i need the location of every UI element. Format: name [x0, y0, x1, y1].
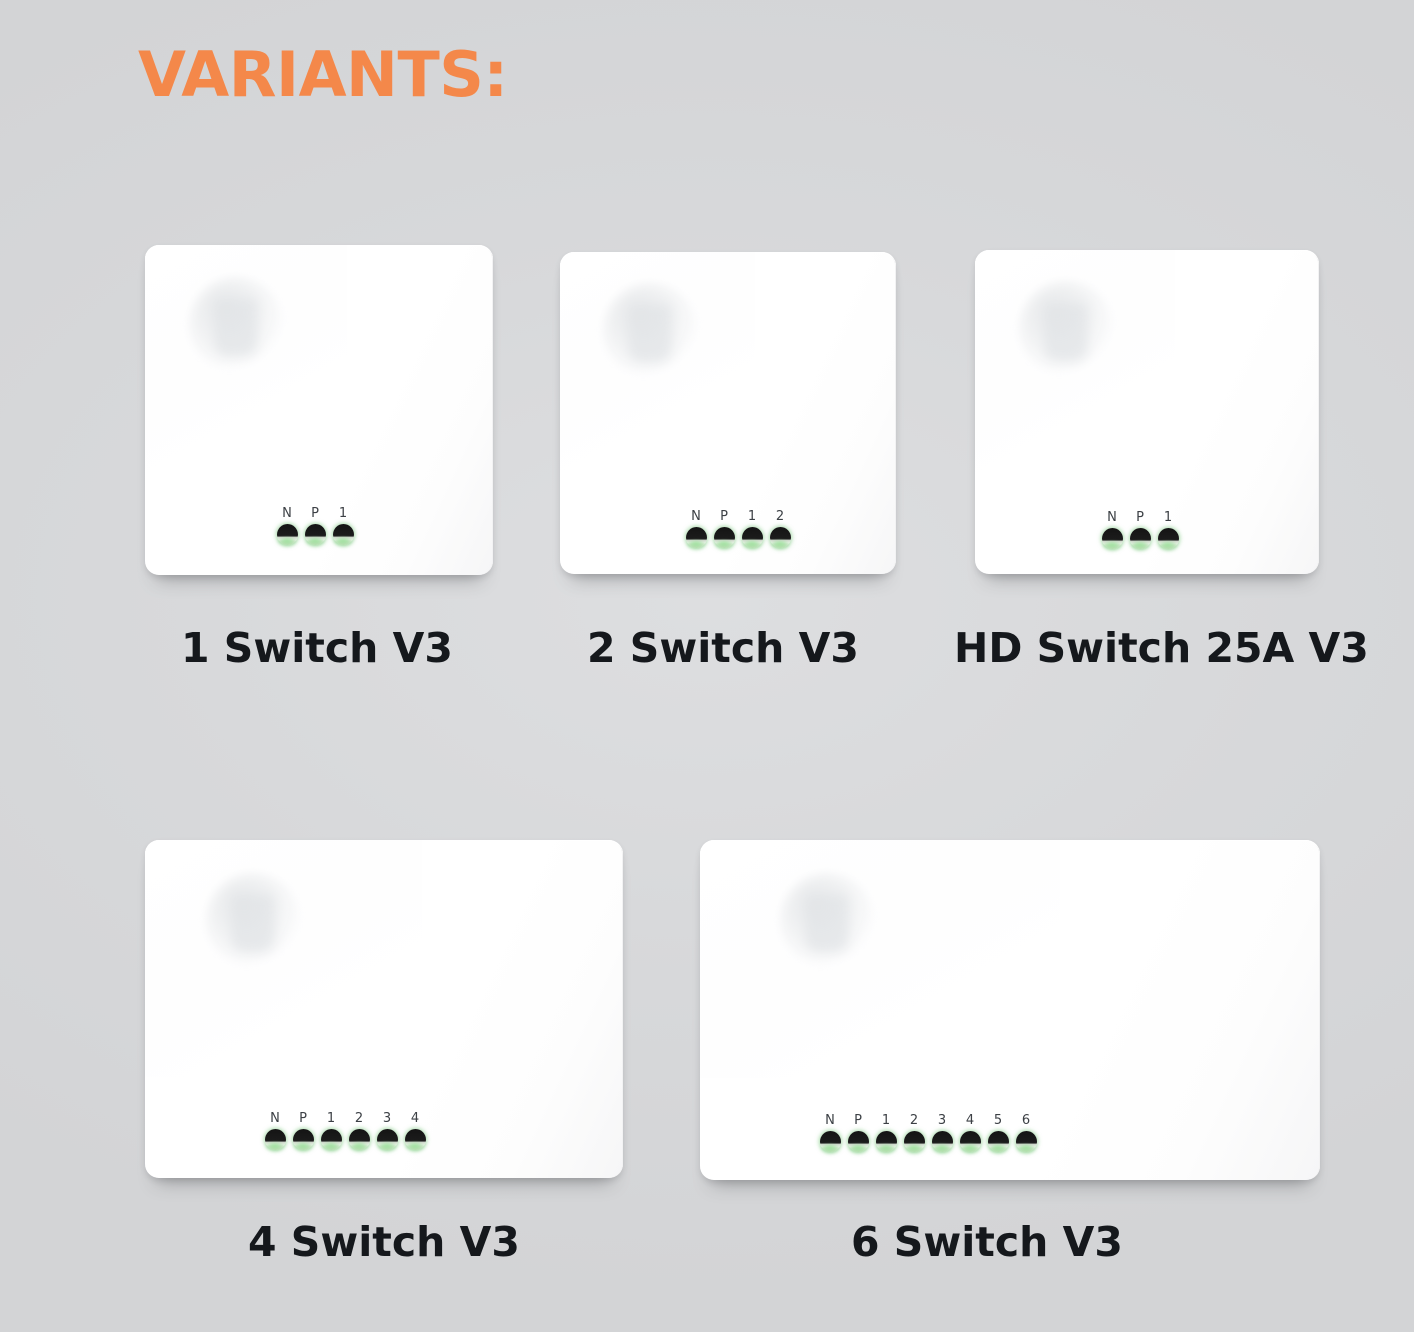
terminal-row: NP123456	[818, 1114, 1038, 1152]
brand-watermark-icon	[1020, 282, 1112, 374]
brand-watermark-icon	[604, 284, 696, 376]
terminal-label: 1	[748, 510, 756, 523]
terminal-port-icon	[820, 1131, 841, 1152]
terminal-label: N	[825, 1114, 835, 1127]
terminal-port-icon	[770, 527, 791, 548]
terminal-label: 1	[882, 1114, 890, 1127]
terminal-row: NP12	[684, 510, 792, 548]
terminal-label: 3	[383, 1112, 391, 1125]
terminal-port-icon	[876, 1131, 897, 1152]
terminal-p: P	[303, 507, 327, 545]
terminal-label: P	[1136, 511, 1144, 524]
terminal-port-icon	[305, 524, 326, 545]
device-body: NP1234	[145, 840, 623, 1178]
terminal-label: P	[311, 507, 319, 520]
terminal-n: N	[684, 510, 708, 548]
variant-label-4-switch-v3: 4 Switch V3	[248, 1222, 520, 1263]
variant-card-6-switch-v3[interactable]: NP123456	[700, 840, 1320, 1180]
terminal-1: 1	[740, 510, 764, 548]
variant-label-1-switch-v3: 1 Switch V3	[181, 628, 453, 669]
terminal-label: 3	[938, 1114, 946, 1127]
terminal-label: 5	[994, 1114, 1002, 1127]
terminal-label: 4	[966, 1114, 974, 1127]
terminal-port-icon	[277, 524, 298, 545]
terminal-label: 2	[910, 1114, 918, 1127]
variant-label-hd-switch-25a-v3: HD Switch 25A V3	[954, 628, 1369, 669]
terminal-port-icon	[377, 1129, 398, 1150]
terminal-n: N	[1100, 511, 1124, 549]
device-sheen	[700, 840, 1060, 1078]
terminal-port-icon	[932, 1131, 953, 1152]
variant-card-hd-switch-25a-v3[interactable]: NP1	[975, 250, 1319, 574]
terminal-label: N	[1107, 511, 1117, 524]
variant-label-6-switch-v3: 6 Switch V3	[851, 1222, 1123, 1263]
terminal-port-icon	[333, 524, 354, 545]
device-body: NP123456	[700, 840, 1320, 1180]
terminal-3: 3	[930, 1114, 954, 1152]
terminal-label: N	[270, 1112, 280, 1125]
terminal-label: P	[299, 1112, 307, 1125]
terminal-row: NP1	[1100, 511, 1180, 549]
terminal-p: P	[846, 1114, 870, 1152]
terminal-1: 1	[319, 1112, 343, 1150]
variant-label-2-switch-v3: 2 Switch V3	[587, 628, 859, 669]
terminal-1: 1	[1156, 511, 1180, 549]
terminal-port-icon	[1016, 1131, 1037, 1152]
device-body: NP1	[145, 245, 493, 575]
terminal-label: 6	[1022, 1114, 1030, 1127]
terminal-1: 1	[331, 507, 355, 545]
terminal-port-icon	[686, 527, 707, 548]
terminal-6: 6	[1014, 1114, 1038, 1152]
terminal-4: 4	[958, 1114, 982, 1152]
terminal-port-icon	[1158, 528, 1179, 549]
terminal-3: 3	[375, 1112, 399, 1150]
terminal-port-icon	[293, 1129, 314, 1150]
terminal-port-icon	[1130, 528, 1151, 549]
page-title: VARIANTS:	[138, 44, 508, 106]
terminal-n: N	[275, 507, 299, 545]
terminal-row: NP1	[275, 507, 355, 545]
terminal-label: N	[691, 510, 701, 523]
terminal-port-icon	[742, 527, 763, 548]
brand-watermark-icon	[190, 278, 282, 370]
device-sheen	[145, 840, 422, 1077]
variant-card-4-switch-v3[interactable]: NP1234	[145, 840, 623, 1178]
terminal-row: NP1234	[263, 1112, 427, 1150]
terminal-p: P	[291, 1112, 315, 1150]
terminal-n: N	[263, 1112, 287, 1150]
terminal-port-icon	[405, 1129, 426, 1150]
terminal-port-icon	[988, 1131, 1009, 1152]
terminal-label: 2	[776, 510, 784, 523]
terminal-label: 1	[339, 507, 347, 520]
device-sheen	[560, 252, 755, 477]
terminal-label: 4	[411, 1112, 419, 1125]
terminal-port-icon	[1102, 528, 1123, 549]
terminal-label: 2	[355, 1112, 363, 1125]
terminal-p: P	[1128, 511, 1152, 549]
terminal-5: 5	[986, 1114, 1010, 1152]
variant-card-1-switch-v3[interactable]: NP1	[145, 245, 493, 575]
terminal-label: 1	[1164, 511, 1172, 524]
terminal-2: 2	[902, 1114, 926, 1152]
terminal-port-icon	[321, 1129, 342, 1150]
device-sheen	[145, 245, 347, 476]
terminal-port-icon	[960, 1131, 981, 1152]
terminal-label: N	[282, 507, 292, 520]
terminal-label: P	[854, 1114, 862, 1127]
brand-watermark-icon	[207, 874, 299, 966]
terminal-label: P	[720, 510, 728, 523]
terminal-port-icon	[904, 1131, 925, 1152]
terminal-port-icon	[714, 527, 735, 548]
terminal-label: 1	[327, 1112, 335, 1125]
device-body: NP1	[975, 250, 1319, 574]
device-sheen	[975, 250, 1175, 477]
terminal-4: 4	[403, 1112, 427, 1150]
variant-card-2-switch-v3[interactable]: NP12	[560, 252, 896, 574]
terminal-1: 1	[874, 1114, 898, 1152]
terminal-n: N	[818, 1114, 842, 1152]
brand-watermark-icon	[781, 874, 873, 966]
terminal-port-icon	[848, 1131, 869, 1152]
terminal-2: 2	[768, 510, 792, 548]
device-body: NP12	[560, 252, 896, 574]
terminal-port-icon	[349, 1129, 370, 1150]
terminal-port-icon	[265, 1129, 286, 1150]
terminal-p: P	[712, 510, 736, 548]
terminal-2: 2	[347, 1112, 371, 1150]
